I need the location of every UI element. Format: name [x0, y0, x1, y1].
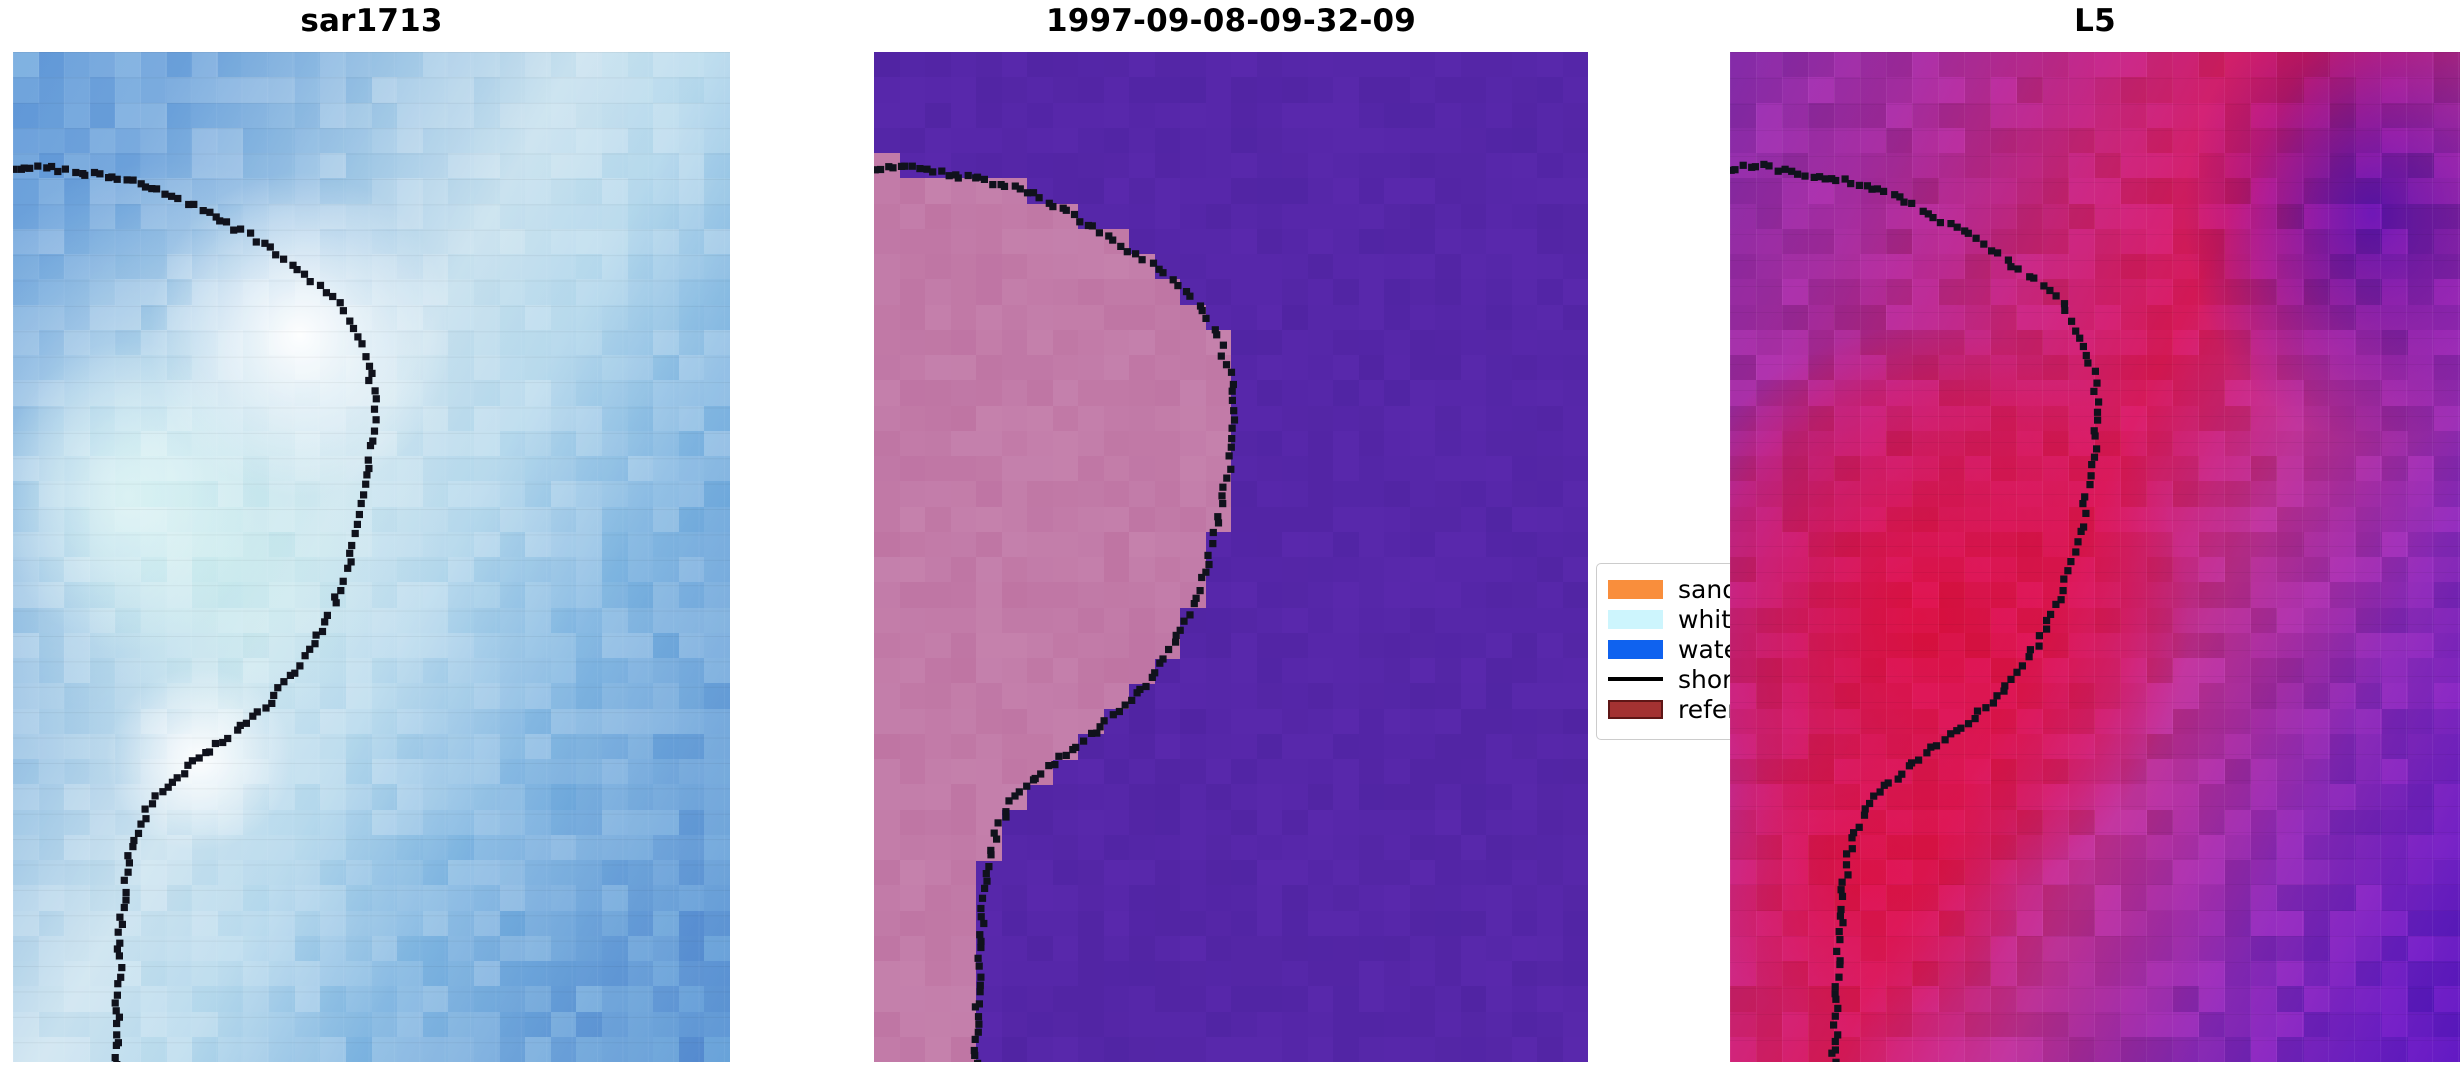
sand-color-swatch: [1608, 580, 1663, 599]
legend-item-shoreline[interactable]: shoreline: [1608, 664, 1730, 694]
water-color-swatch: [1608, 640, 1663, 659]
legend-box[interactable]: sand whitewater water shoreline referenc…: [1596, 563, 1730, 740]
legend-label-sand: sand: [1678, 577, 1730, 602]
whitewater-color-swatch: [1608, 610, 1663, 629]
legend-item-reference[interactable]: reference: [1608, 694, 1730, 724]
legend-item-whitewater[interactable]: whitewater: [1608, 604, 1730, 634]
panel-title-classified: 1997-09-08-09-32-09: [874, 6, 1588, 37]
reference-color-swatch: [1608, 700, 1663, 719]
panel-sar[interactable]: [13, 52, 730, 1062]
legend-label-water: water: [1678, 637, 1730, 662]
legend-clipper: sand whitewater water shoreline referenc…: [1596, 563, 1730, 740]
legend-label-whitewater: whitewater: [1678, 607, 1730, 632]
shoreline-overlay-l5: [1730, 52, 2460, 1062]
figure-canvas: sar1713 1997-09-08-09-32-09 L5: [0, 0, 2460, 1077]
legend-label-reference: reference: [1678, 697, 1730, 722]
shoreline-line-sample: [1608, 670, 1663, 689]
legend-item-water[interactable]: water: [1608, 634, 1730, 664]
shoreline-overlay-classified: [874, 52, 1588, 1062]
legend-label-shoreline: shoreline: [1678, 667, 1730, 692]
panel-title-l5: L5: [1730, 6, 2460, 37]
panel-classified[interactable]: [874, 52, 1588, 1062]
panel-title-sar: sar1713: [13, 6, 730, 37]
shoreline-overlay-sar: [13, 52, 730, 1062]
legend-item-sand[interactable]: sand: [1608, 574, 1730, 604]
panel-l5[interactable]: [1730, 52, 2460, 1062]
